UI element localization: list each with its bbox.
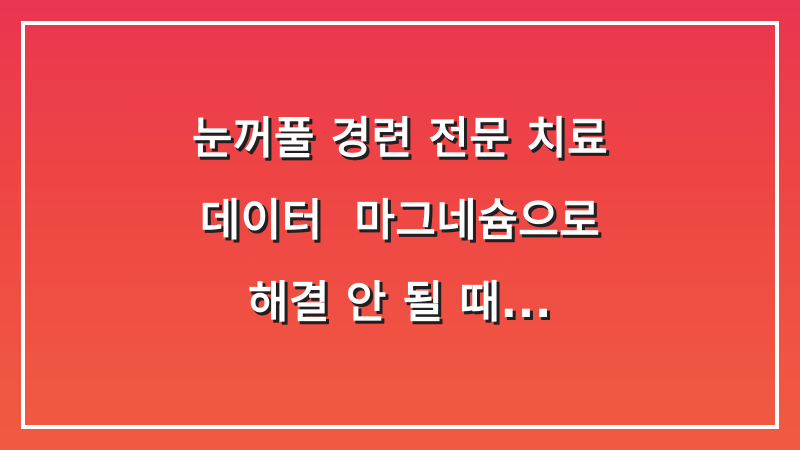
thumbnail-card: 눈꺼풀 경련 전문 치료 데이터 마그네슘으로 해결 안 될 때... <box>0 0 800 450</box>
headline-line-2: 데이터 마그네슘으로 <box>0 180 800 262</box>
headline-block: 눈꺼풀 경련 전문 치료 데이터 마그네슘으로 해결 안 될 때... <box>0 0 800 450</box>
headline-line-3: 해결 안 될 때... <box>0 262 800 344</box>
headline-line-1: 눈꺼풀 경련 전문 치료 <box>0 98 800 180</box>
